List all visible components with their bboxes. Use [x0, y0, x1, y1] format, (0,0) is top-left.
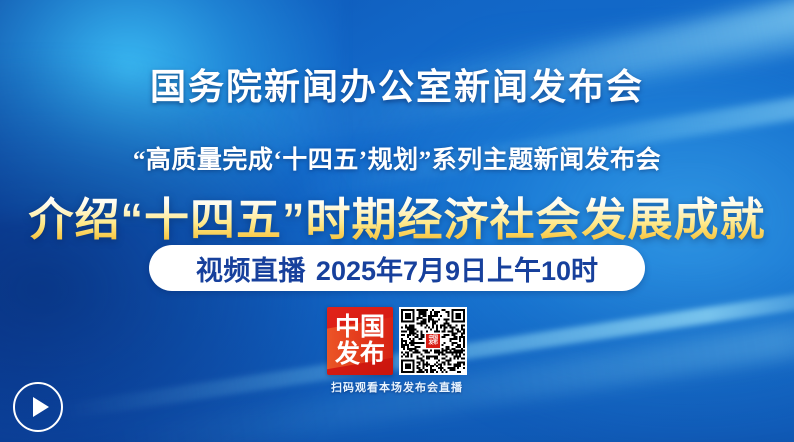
- live-broadcast-datetime: 2025年7月9日上午10时: [316, 249, 598, 288]
- china-release-logo: 中国 发布: [327, 307, 393, 375]
- logo-text-line1: 中国: [335, 315, 385, 341]
- logo-and-qr-row: 中国 发布 中国 发布: [327, 307, 467, 375]
- scan-caption: 扫码观看本场发布会直播: [0, 379, 794, 395]
- live-broadcast-pill[interactable]: 视频直播 2025年7月9日上午10时: [149, 245, 645, 291]
- live-broadcast-label: 视频直播: [196, 249, 306, 288]
- headline-topic: 介绍“十四五”时期经济社会发展成就: [0, 183, 794, 248]
- play-button[interactable]: [13, 382, 63, 432]
- news-conference-poster: 国务院新闻办公室新闻发布会 “高质量完成‘十四五’规划”系列主题新闻发布会 介绍…: [0, 0, 794, 442]
- series-subtitle: “高质量完成‘十四五’规划”系列主题新闻发布会: [0, 140, 794, 176]
- poster-content: 国务院新闻办公室新闻发布会 “高质量完成‘十四五’规划”系列主题新闻发布会 介绍…: [0, 0, 794, 442]
- qr-code[interactable]: 中国 发布: [399, 307, 467, 375]
- main-title: 国务院新闻办公室新闻发布会: [0, 58, 794, 110]
- play-icon: [33, 397, 49, 417]
- qr-center-line2: 发布: [428, 341, 437, 346]
- qr-code-center-logo: 中国 发布: [425, 333, 441, 349]
- logo-text-line2: 发布: [335, 342, 385, 368]
